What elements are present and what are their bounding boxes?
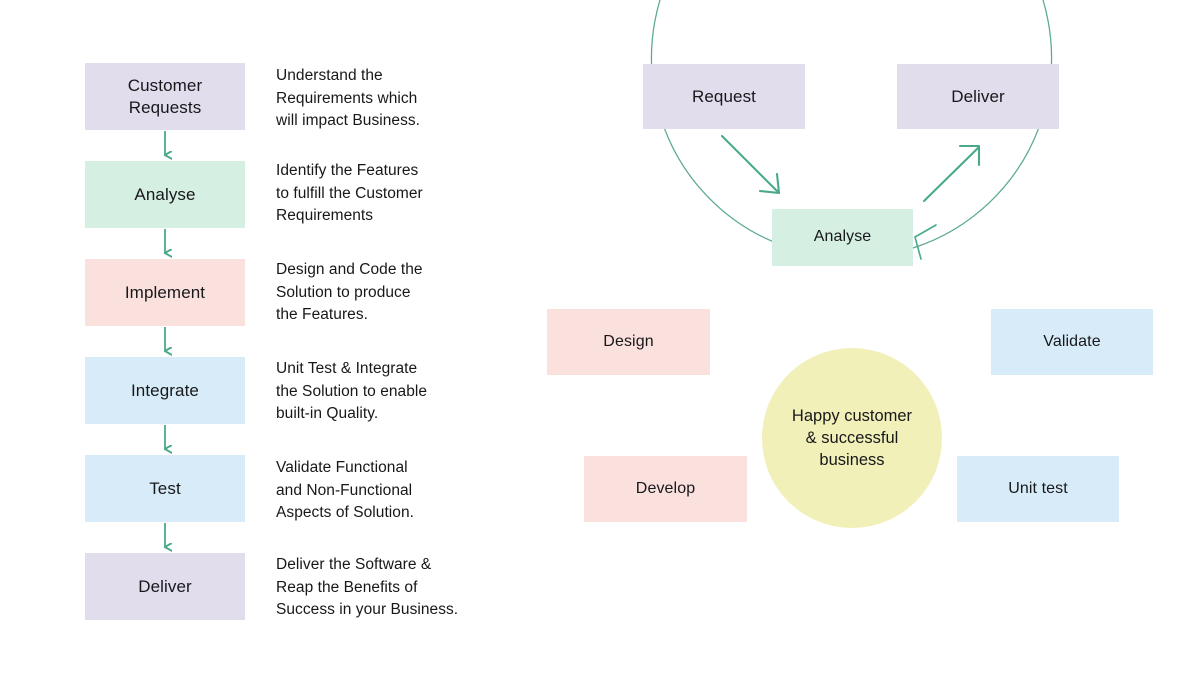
cycle-center-outcome: Happy customer & successful business	[762, 348, 942, 528]
flow-step-box-test[interactable]: Test	[85, 455, 245, 522]
arrow-cycle-to-deliver-line	[924, 148, 978, 201]
cycle-node-box-validate[interactable]: Validate	[991, 309, 1153, 375]
cycle-node-box-design[interactable]: Design	[547, 309, 710, 375]
flow-step-description-deliver: Deliver the Software & Reap the Benefits…	[276, 554, 458, 622]
cycle-arc-arrowhead	[915, 225, 936, 259]
flow-step-description-test: Validate Functional and Non-Functional A…	[276, 457, 414, 525]
arrow-cycle-to-deliver-head	[960, 146, 979, 165]
cycle-entry-box-request[interactable]: Request	[643, 64, 805, 129]
flow-step-box-integrate[interactable]: Integrate	[85, 357, 245, 424]
cycle-node-box-analyse[interactable]: Analyse	[772, 209, 913, 266]
flow-step-description-integrate: Unit Test & Integrate the Solution to en…	[276, 358, 427, 426]
flow-step-description-customer-requests: Understand the Requirements which will i…	[276, 65, 420, 133]
flow-step-description-implement: Design and Code the Solution to produce …	[276, 259, 423, 327]
flow-step-box-customer-requests[interactable]: Customer Requests	[85, 63, 245, 130]
flow-step-box-implement[interactable]: Implement	[85, 259, 245, 326]
flow-step-box-deliver[interactable]: Deliver	[85, 553, 245, 620]
flow-step-description-analyse: Identify the Features to fulfill the Cus…	[276, 160, 423, 228]
arrow-request-to-analyse-head	[760, 174, 779, 193]
cycle-node-box-unit-test[interactable]: Unit test	[957, 456, 1119, 522]
arrow-request-to-analyse-line	[722, 136, 777, 191]
cycle-exit-box-deliver[interactable]: Deliver	[897, 64, 1059, 129]
diagram-canvas: Customer Requests Analyse Implement Inte…	[0, 0, 1200, 684]
flow-step-box-analyse[interactable]: Analyse	[85, 161, 245, 228]
cycle-node-box-develop[interactable]: Develop	[584, 456, 747, 522]
